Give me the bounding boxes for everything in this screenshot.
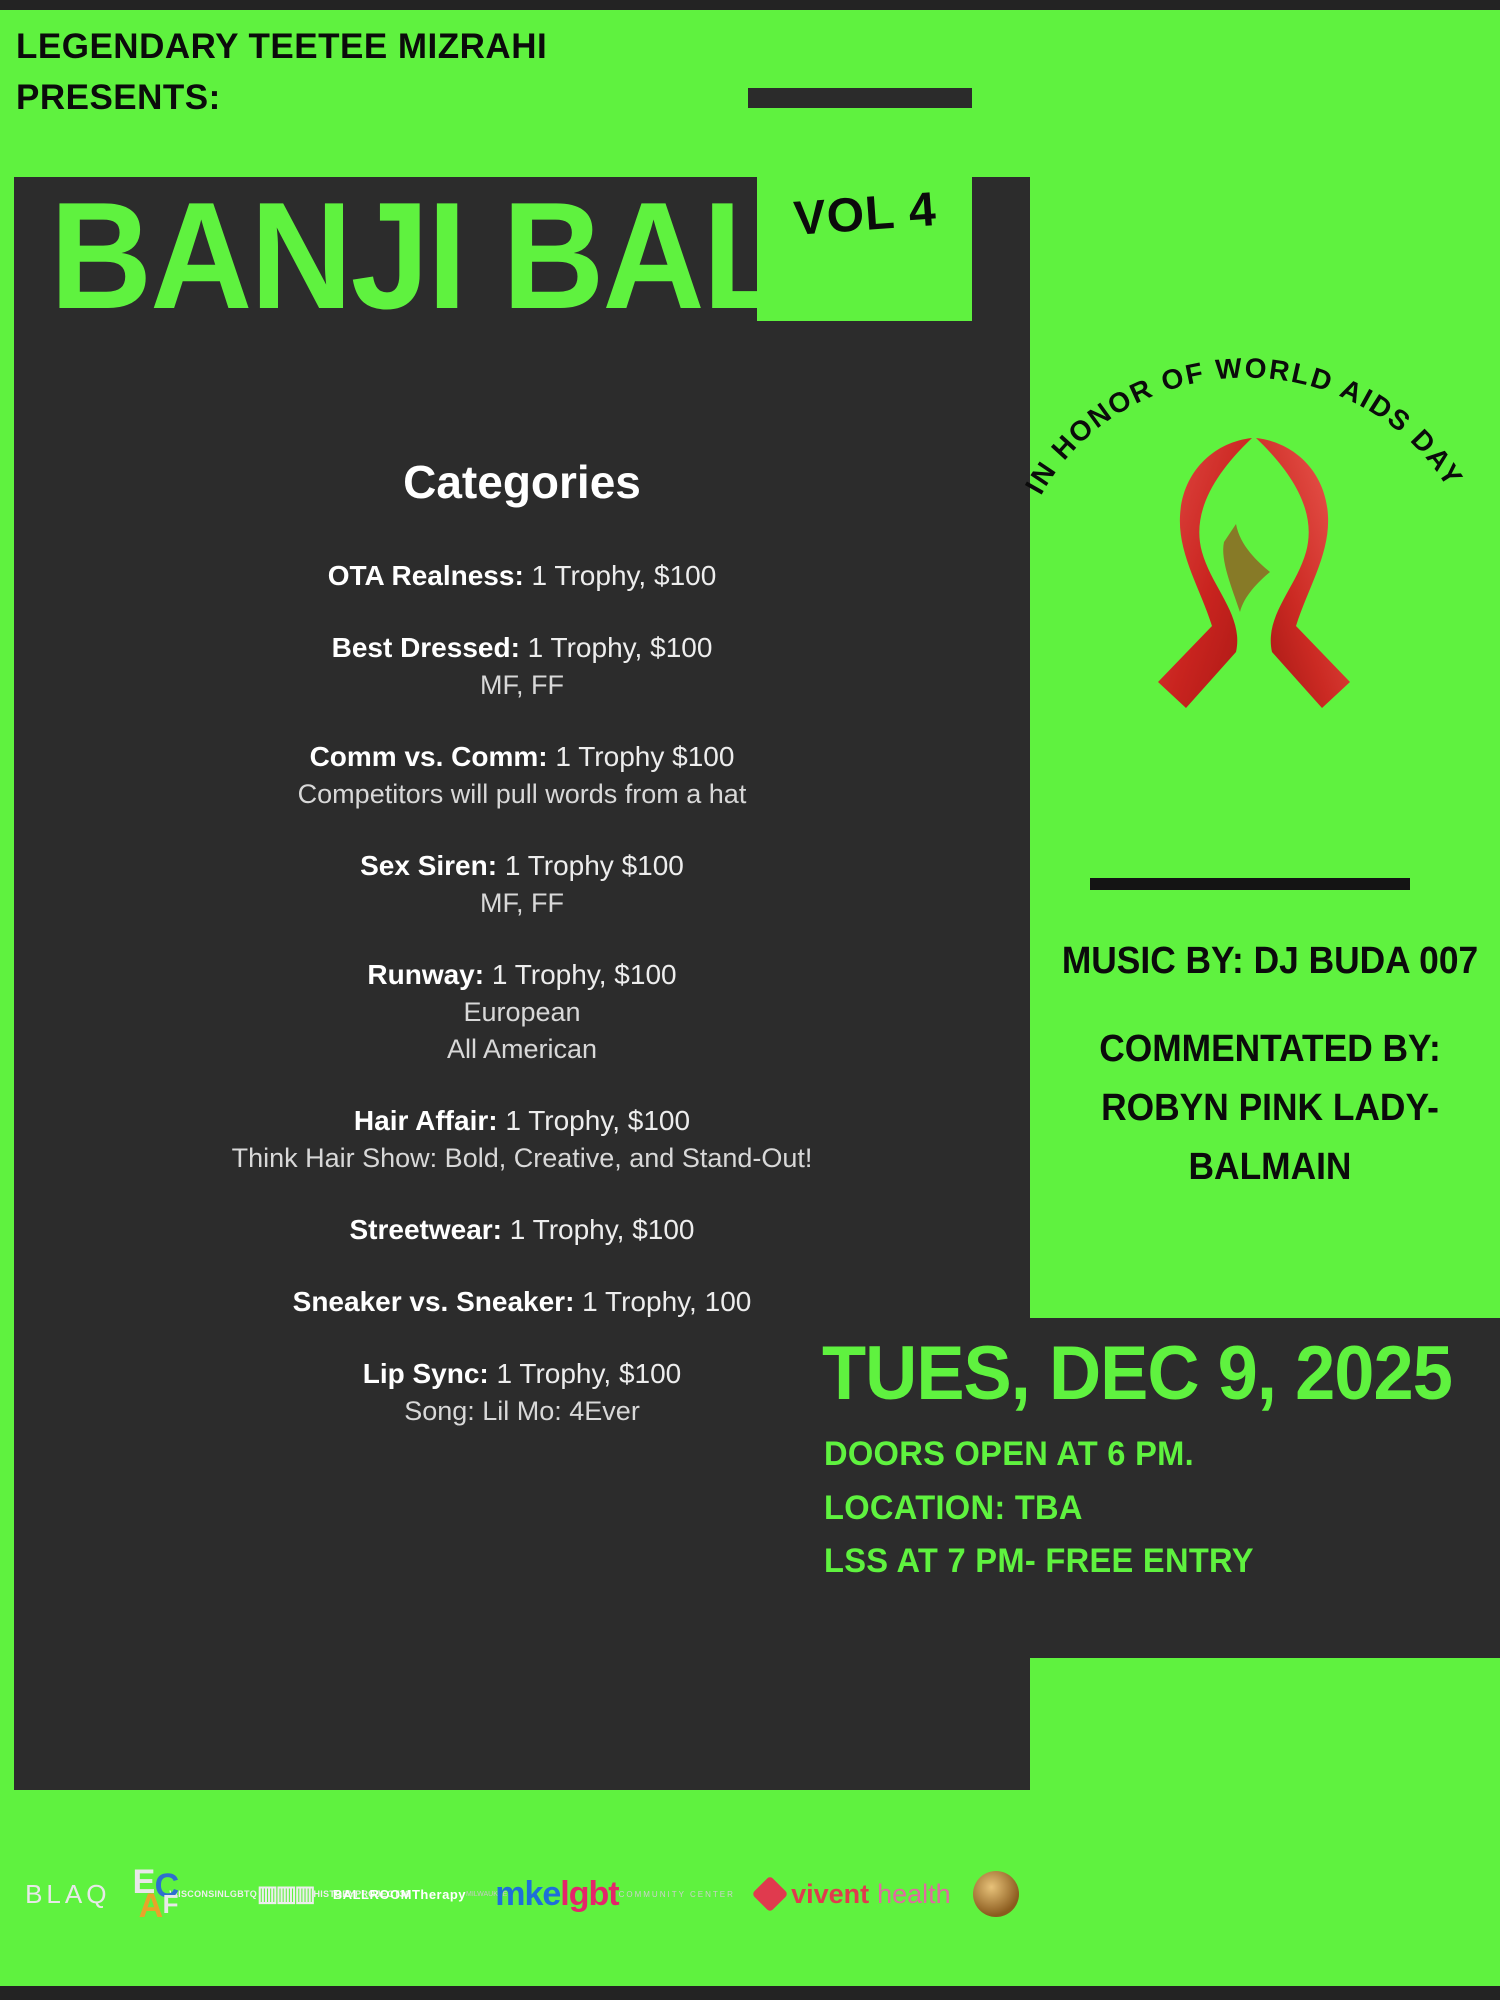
lss-text: LSS AT 7 PM- FREE ENTRY bbox=[824, 1535, 1448, 1589]
category-name: Runway: bbox=[367, 959, 484, 990]
category-title-line: Sex Siren: 1 Trophy $100 bbox=[14, 847, 1030, 885]
sponsor-bt-line1: BALLROOM bbox=[333, 1887, 412, 1902]
sponsor-logo-wisconsin-lgbtq-history-project: WISCONSIN LGBTQ ▥▥▥ HISTORY PROJECT 30 bbox=[235, 1881, 345, 1906]
category-name: Comm vs. Comm: bbox=[310, 741, 548, 772]
sponsor-mke-sub: COMMUNITY CENTER bbox=[619, 1890, 735, 1899]
category-prize: 1 Trophy $100 bbox=[497, 850, 684, 881]
sponsor-logo-eca: E C A F bbox=[133, 1863, 213, 1925]
category-subtitle: European bbox=[14, 994, 1030, 1031]
volume-badge-label: VOL 4 bbox=[792, 182, 938, 247]
category-title-line: Sneaker vs. Sneaker: 1 Trophy, 100 bbox=[14, 1283, 1030, 1321]
category-name: Sex Siren: bbox=[360, 850, 497, 881]
category-title-line: Comm vs. Comm: 1 Trophy $100 bbox=[14, 738, 1030, 776]
category-name: Sneaker vs. Sneaker: bbox=[293, 1286, 575, 1317]
category-item: Streetwear: 1 Trophy, $100 bbox=[14, 1211, 1030, 1249]
red-aids-ribbon-icon bbox=[1140, 420, 1370, 720]
page-title: BANJI BALL bbox=[50, 184, 872, 328]
bottom-edge-bar bbox=[0, 1986, 1500, 2000]
category-item: Sneaker vs. Sneaker: 1 Trophy, 100 bbox=[14, 1283, 1030, 1321]
presenter-line-1: LEGENDARY TEETEE MIZRAHI bbox=[16, 27, 547, 66]
category-prize: 1 Trophy, 100 bbox=[574, 1286, 751, 1317]
category-prize: 1 Trophy, $100 bbox=[524, 560, 717, 591]
category-prize: 1 Trophy, $100 bbox=[520, 632, 713, 663]
presenter-heading: LEGENDARY TEETEE MIZRAHI PRESENTS: bbox=[16, 22, 776, 124]
category-title-line: Hair Affair: 1 Trophy, $100 bbox=[14, 1102, 1030, 1140]
commentated-by-block: COMMENTATED BY: ROBYN PINK LADY- BALMAIN bbox=[1056, 1020, 1484, 1197]
category-subtitle: All American bbox=[14, 1031, 1030, 1068]
category-item: Runway: 1 Trophy, $100EuropeanAll Americ… bbox=[14, 956, 1030, 1068]
sponsor-vivent-part2: health bbox=[877, 1879, 951, 1910]
category-item: Comm vs. Comm: 1 Trophy $100Competitors … bbox=[14, 738, 1030, 813]
category-item: Hair Affair: 1 Trophy, $100Think Hair Sh… bbox=[14, 1102, 1030, 1177]
event-date: TUES, DEC 9, 2025 bbox=[822, 1330, 1452, 1417]
category-prize: 1 Trophy, $100 bbox=[502, 1214, 695, 1245]
sponsor-bt-line2: Therapy bbox=[412, 1887, 466, 1902]
music-by-label: MUSIC BY: DJ BUDA 007 bbox=[1056, 940, 1484, 983]
header-accent-bar bbox=[748, 88, 972, 108]
sponsor-wlhp-line2: LGBTQ bbox=[224, 1889, 257, 1899]
category-prize: 1 Trophy $100 bbox=[548, 741, 735, 772]
vivent-diamond-icon bbox=[752, 1876, 789, 1913]
sponsor-mke-part1: mke bbox=[495, 1875, 560, 1913]
poster-root: LEGENDARY TEETEE MIZRAHI PRESENTS: BANJI… bbox=[0, 0, 1500, 2000]
sponsor-logo-mkelgbt: mkelgbt COMMUNITY CENTER bbox=[495, 1875, 735, 1914]
doors-open-text: DOORS OPEN AT 6 PM. bbox=[824, 1428, 1448, 1482]
categories-heading: Categories bbox=[14, 455, 1030, 509]
sponsor-mke-part2: lgbt bbox=[560, 1875, 618, 1913]
category-prize: 1 Trophy, $100 bbox=[498, 1105, 691, 1136]
presenter-line-2: PRESENTS: bbox=[16, 73, 776, 124]
sponsor-logo-ballroom-therapy: BALLROOM Therapy MILWAUKEE bbox=[367, 1876, 473, 1912]
sponsor-logo-blaq: BLAQ bbox=[25, 1879, 110, 1910]
sponsor-logo-vivent-health: vivent health bbox=[757, 1879, 951, 1910]
event-detail-lines: DOORS OPEN AT 6 PM. LOCATION: TBA LSS AT… bbox=[824, 1428, 1448, 1589]
category-item: Best Dressed: 1 Trophy, $100MF, FF bbox=[14, 629, 1030, 704]
category-name: Lip Sync: bbox=[363, 1358, 489, 1389]
sponsor-vivent-part1: vivent bbox=[791, 1879, 869, 1910]
category-name: OTA Realness: bbox=[328, 560, 524, 591]
categories-list: OTA Realness: 1 Trophy, $100Best Dressed… bbox=[14, 557, 1030, 1430]
commentator-line-1: ROBYN PINK LADY- bbox=[1056, 1079, 1484, 1138]
category-title-line: Runway: 1 Trophy, $100 bbox=[14, 956, 1030, 994]
category-subtitle: Think Hair Show: Bold, Creative, and Sta… bbox=[14, 1140, 1030, 1177]
sponsor-logo-gold-seal bbox=[973, 1871, 1019, 1917]
category-title-line: Best Dressed: 1 Trophy, $100 bbox=[14, 629, 1030, 667]
category-name: Streetwear: bbox=[349, 1214, 502, 1245]
category-item: Sex Siren: 1 Trophy $100MF, FF bbox=[14, 847, 1030, 922]
category-title-line: Streetwear: 1 Trophy, $100 bbox=[14, 1211, 1030, 1249]
category-subtitle: MF, FF bbox=[14, 667, 1030, 704]
category-prize: 1 Trophy, $100 bbox=[489, 1358, 682, 1389]
commentated-by-label: COMMENTATED BY: bbox=[1056, 1020, 1484, 1079]
category-name: Hair Affair: bbox=[354, 1105, 498, 1136]
capitol-icon: ▥▥▥ bbox=[257, 1881, 313, 1906]
credits-divider bbox=[1090, 878, 1410, 890]
categories-section: Categories OTA Realness: 1 Trophy, $100B… bbox=[14, 455, 1030, 1464]
category-subtitle: MF, FF bbox=[14, 885, 1030, 922]
category-prize: 1 Trophy, $100 bbox=[484, 959, 677, 990]
location-text: LOCATION: TBA bbox=[824, 1482, 1448, 1536]
top-edge-bar bbox=[0, 0, 1500, 10]
sponsor-logo-strip: BLAQ E C A F WISCONSIN LGBTQ ▥▥▥ HISTORY… bbox=[14, 1838, 1030, 1950]
category-subtitle: Competitors will pull words from a hat bbox=[14, 776, 1030, 813]
category-name: Best Dressed: bbox=[332, 632, 520, 663]
category-item: OTA Realness: 1 Trophy, $100 bbox=[14, 557, 1030, 595]
commentator-line-2: BALMAIN bbox=[1056, 1138, 1484, 1197]
category-title-line: OTA Realness: 1 Trophy, $100 bbox=[14, 557, 1030, 595]
bottom-right-green-block bbox=[1030, 1658, 1500, 1986]
